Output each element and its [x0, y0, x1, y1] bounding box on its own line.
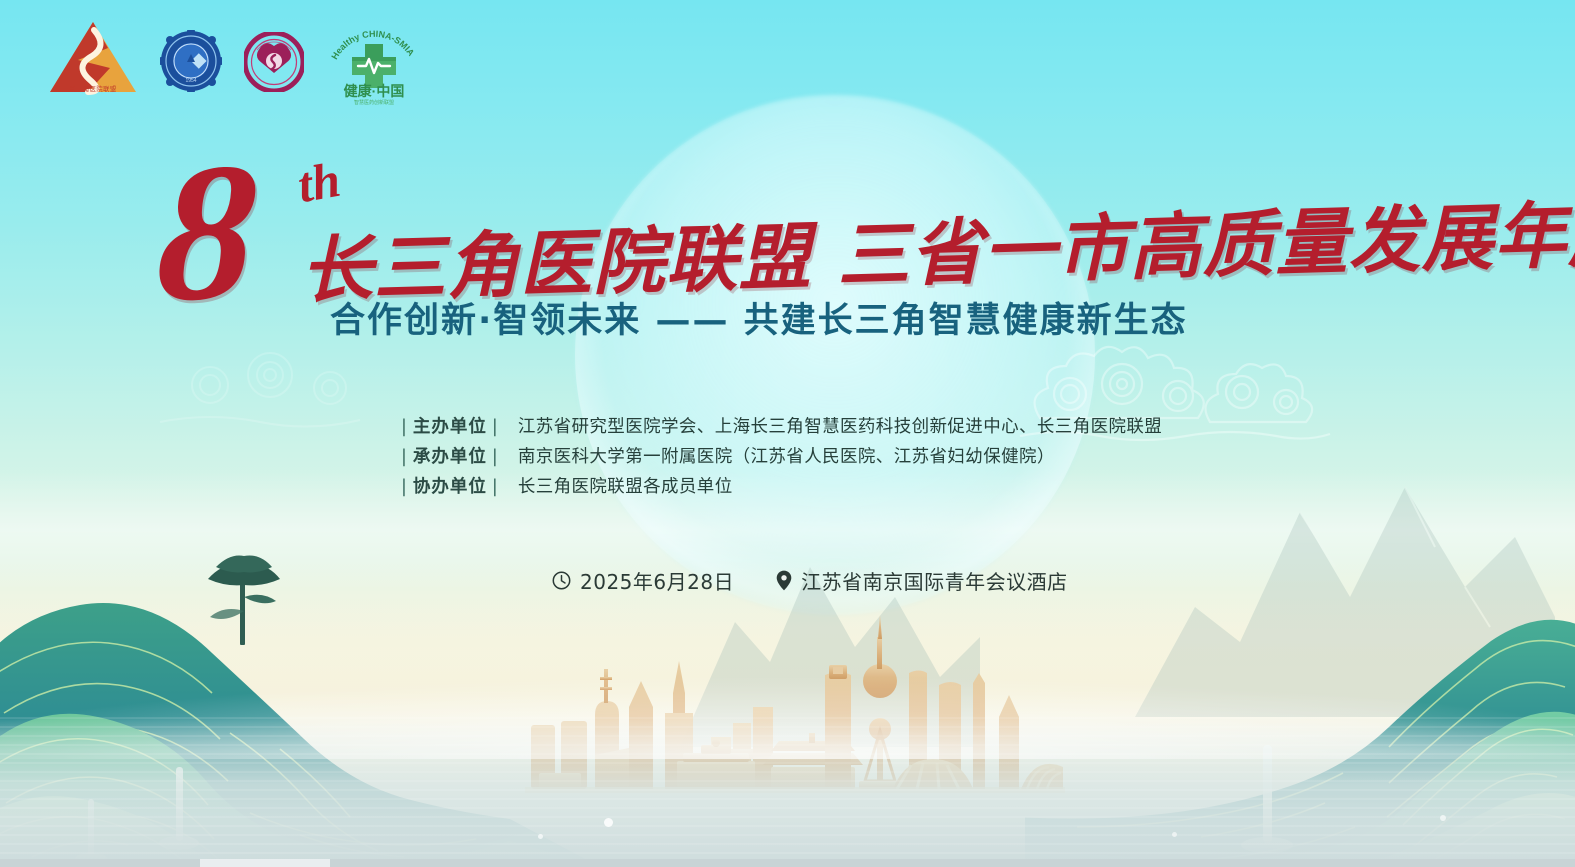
water-bubble [538, 834, 543, 839]
water-bubble [1440, 815, 1446, 821]
organizer-value-coorganizer: 长三角医院联盟各成员单位 [518, 472, 733, 502]
bottom-edge-strip [0, 859, 1575, 867]
logo-seal-year: 1954 [185, 78, 196, 84]
organizer-row: | 协办单位 | 长三角医院联盟各成员单位 [396, 472, 1162, 502]
logo-caption-alliance: 长三角医院联盟 [53, 85, 134, 94]
clock-icon [552, 571, 571, 590]
pine-tree [208, 555, 280, 645]
conference-poster: 长三角医院联盟 1954 [0, 0, 1575, 867]
page-subtitle: 合作创新·智领未来 —— 共建长三角智慧健康新生态 [330, 292, 1188, 343]
organizer-label-coorganizer: | 协办单位 | [396, 472, 504, 502]
water-ripple-texture [0, 717, 1575, 867]
water-bubble [604, 818, 613, 827]
logo-changsanjiao-hospital-alliance: 长三角医院联盟 [48, 20, 138, 108]
organizer-row: | 承办单位 | 南京医科大学第一附属医院（江苏省人民医院、江苏省妇幼保健院） [396, 442, 1162, 472]
organizer-row: | 主办单位 | 江苏省研究型医院学会、上海长三角智慧医药科技创新促进中心、长三… [396, 412, 1162, 442]
organizer-key-text: 协办单位 [413, 472, 487, 502]
edition-suffix: th [293, 150, 344, 214]
logo-nanjing-medical-university-hospital [244, 32, 304, 92]
logo-healthy-china-sub: 智慧医药创新联盟 [354, 99, 394, 106]
organizer-key-text: 承办单位 [413, 442, 487, 472]
edition-number: 8 [153, 133, 262, 334]
map-pin-icon [776, 570, 792, 591]
logo-healthy-china-cn: 健康·中国 [344, 83, 405, 99]
organizer-label-undertaker: | 承办单位 | [396, 442, 504, 472]
organizer-value-undertaker: 南京医科大学第一附属医院（江苏省人民医院、江苏省妇幼保健院） [518, 442, 1055, 472]
auspicious-cloud-pattern-left [150, 330, 400, 440]
organizer-value-host: 江苏省研究型医院学会、上海长三角智慧医药科技创新促进中心、长三角医院联盟 [518, 412, 1162, 442]
organizer-key-text: 主办单位 [413, 412, 487, 442]
water-bubble [1172, 832, 1177, 837]
organizer-label-host: | 主办单位 | [396, 412, 504, 442]
logo-jiangsu-research-hospital-association: 1954 [160, 30, 222, 92]
event-date-item: 2025年6月28日 [552, 566, 734, 595]
event-date-text: 2025年6月28日 [580, 566, 734, 595]
logo-healthy-china-smia: Healthy CHINA-SMIA 健康·中国 智慧医药创新联盟 [326, 20, 422, 108]
event-venue-item: 江苏省南京国际青年会议酒店 [776, 566, 1068, 595]
event-meta-row: 2025年6月28日 江苏省南京国际青年会议酒店 [552, 566, 1068, 595]
sponsor-logo-row: 长三角医院联盟 1954 [48, 20, 422, 108]
organizer-block: | 主办单位 | 江苏省研究型医院学会、上海长三角智慧医药科技创新促进中心、长三… [396, 412, 1162, 502]
event-venue-text: 江苏省南京国际青年会议酒店 [801, 566, 1068, 595]
